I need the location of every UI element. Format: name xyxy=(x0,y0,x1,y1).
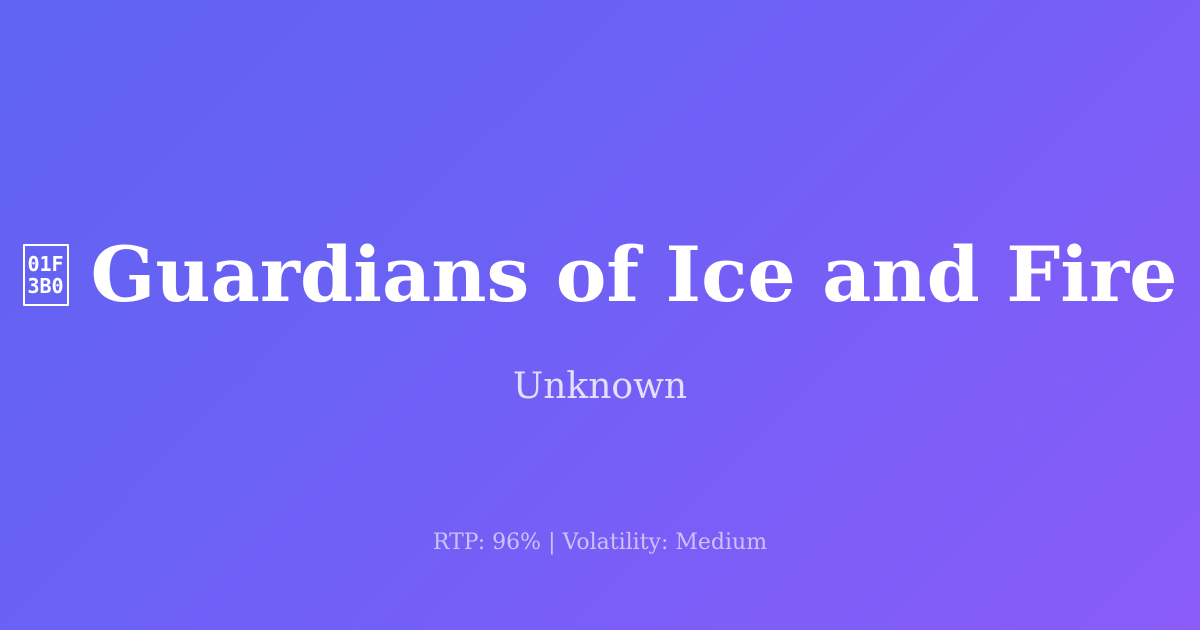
tofu-codepoint-bottom: 3B0 xyxy=(27,276,63,297)
slot-machine-icon: 01F 3B0 xyxy=(23,244,69,306)
page-subtitle: Unknown xyxy=(0,364,1200,410)
tofu-codepoint-top: 01F xyxy=(27,254,63,275)
og-card: 01F 3B0 Guardians of Ice and Fire Unknow… xyxy=(0,0,1200,630)
page-title: Guardians of Ice and Fire xyxy=(91,232,1178,318)
title-row: 01F 3B0 Guardians of Ice and Fire xyxy=(0,232,1200,318)
game-stats-footer: RTP: 96% | Volatility: Medium xyxy=(0,528,1200,558)
